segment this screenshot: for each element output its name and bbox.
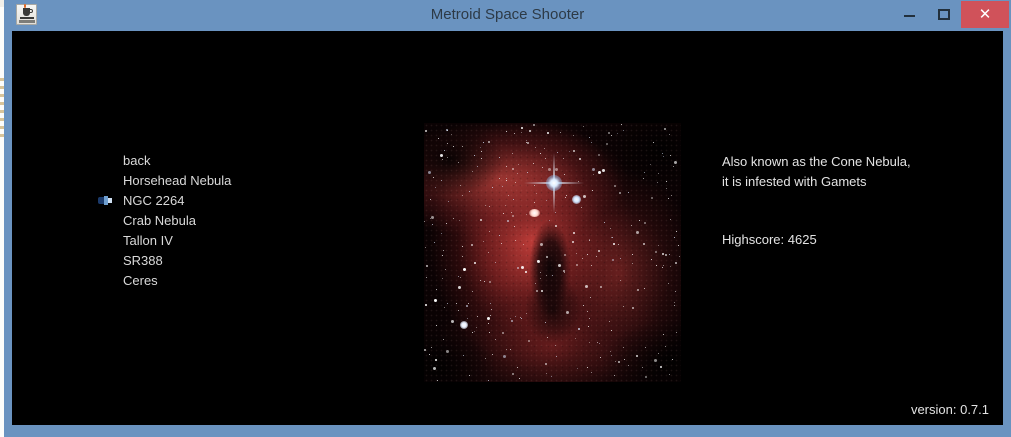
menu-item-horsehead-nebula[interactable]: Horsehead Nebula [115,171,375,191]
menu-item-crab-nebula[interactable]: Crab Nebula [115,211,375,231]
window-title: Metroid Space Shooter [4,0,1011,29]
menu-item-label: Tallon IV [123,233,173,248]
close-icon: ✕ [961,1,1009,28]
titlebar[interactable]: Metroid Space Shooter ✕ [4,0,1011,29]
bright-star [546,175,562,191]
minimize-icon [904,15,915,17]
menu-item-sr388[interactable]: SR388 [115,251,375,271]
menu-item-label: NGC 2264 [123,193,184,208]
level-description: Also known as the Cone Nebula, it is inf… [722,152,992,192]
cone-nebula-image [424,123,681,382]
menu-item-label: back [123,153,150,168]
version-label: version: 0.7.1 [911,402,989,417]
application-window: Metroid Space Shooter ✕ back [4,0,1011,437]
game-canvas[interactable]: back Horsehead Nebula NGC 2264 Crab Nebu… [12,31,1003,425]
description-line-1: Also known as the Cone Nebula, [722,152,992,172]
maximize-button[interactable] [927,0,961,27]
menu-item-ceres[interactable]: Ceres [115,271,375,291]
menu-item-label: Horsehead Nebula [123,173,231,188]
maximize-icon [938,9,950,20]
menu-item-ngc-2264[interactable]: NGC 2264 [115,191,375,211]
close-button[interactable]: ✕ [961,1,1009,28]
highscore-label: Highscore: 4625 [722,232,817,247]
level-select-menu: back Horsehead Nebula NGC 2264 Crab Nebu… [115,151,375,291]
menu-item-label: Crab Nebula [123,213,196,228]
window-controls: ✕ [893,0,1011,29]
menu-item-label: SR388 [123,253,163,268]
menu-item-back[interactable]: back [115,151,375,171]
menu-item-label: Ceres [123,273,158,288]
description-line-2: it is infested with Gamets [722,172,992,192]
spaceship-cursor-icon [98,196,112,205]
minimize-button[interactable] [893,0,927,27]
menu-item-tallon-iv[interactable]: Tallon IV [115,231,375,251]
screenshot-root: File Source Refactor Navigate Search Pro… [0,0,1011,437]
